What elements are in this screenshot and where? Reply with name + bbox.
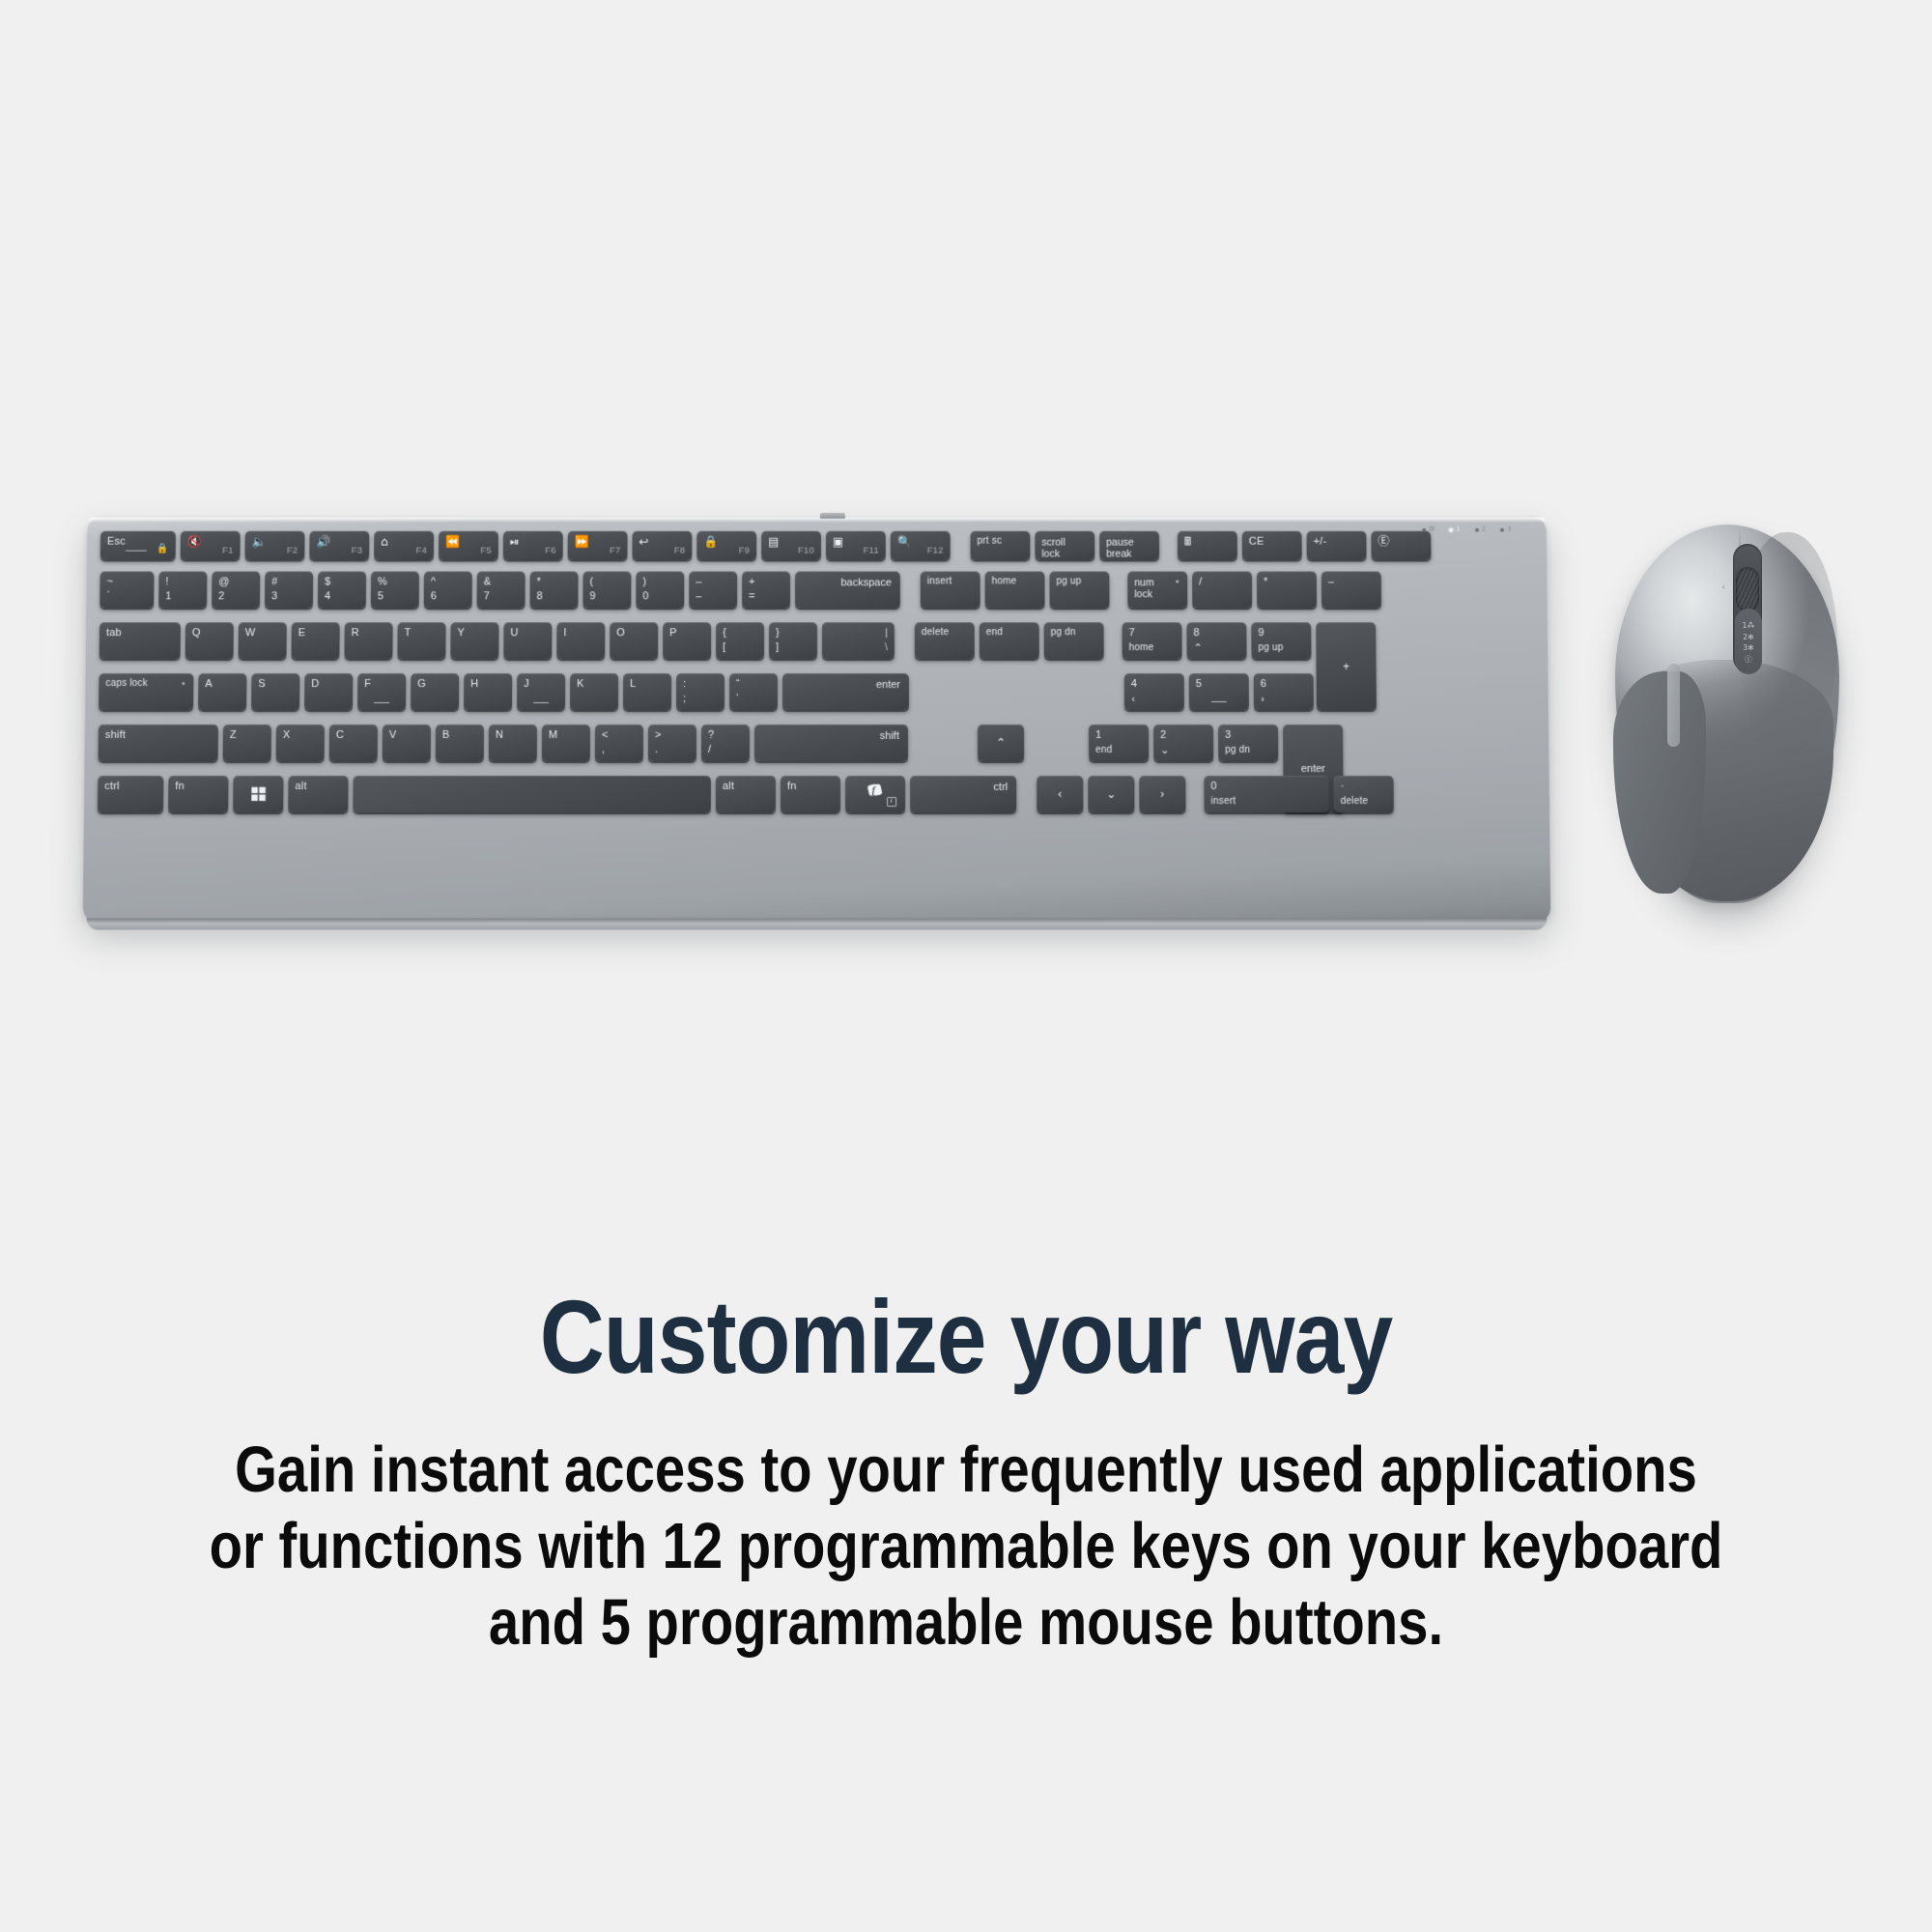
key-z[interactable]: Z bbox=[223, 724, 271, 761]
key-x[interactable]: X bbox=[276, 724, 325, 761]
key-c[interactable]: C bbox=[329, 724, 378, 761]
key-9[interactable]: ( 9 bbox=[582, 571, 631, 608]
pairing-led-strip: ❂ 1 2 3 bbox=[1422, 526, 1512, 533]
key-0[interactable]: ) 0 bbox=[636, 571, 684, 608]
key-space[interactable] bbox=[353, 776, 711, 812]
key-left-alt[interactable]: alt bbox=[288, 776, 348, 812]
key-f12-search[interactable]: 🔍 F12 bbox=[891, 531, 951, 560]
padlock-icon: 🔒 bbox=[703, 536, 718, 548]
page-subtitle: Gain instant access to your frequently u… bbox=[155, 1432, 1777, 1661]
key-i[interactable]: I bbox=[556, 622, 605, 659]
led-label-1: 1 bbox=[1456, 526, 1461, 533]
key-arrow-left[interactable]: ‹ bbox=[1037, 776, 1083, 812]
key-h[interactable]: H bbox=[464, 673, 512, 710]
key-tab[interactable]: tab bbox=[99, 622, 181, 659]
key-numpad-4[interactable]: 4 ‹ bbox=[1124, 673, 1184, 710]
calculator-icon: 🖩 bbox=[1184, 536, 1191, 548]
chevron-left-icon: ‹ bbox=[1131, 694, 1136, 704]
led-label-3: 3 bbox=[1507, 526, 1512, 533]
marketing-copy: Customize your way Gain instant access t… bbox=[0, 1285, 1932, 1661]
key-8[interactable]: * 8 bbox=[530, 571, 579, 608]
led-channel-2: 2 bbox=[1475, 526, 1487, 533]
keyboard: ❂ 1 2 3 Esc 🔒 bbox=[83, 518, 1551, 923]
key-caps-lock[interactable]: caps lock bbox=[99, 673, 193, 710]
key-equals[interactable]: + = bbox=[742, 571, 790, 608]
led-dot-2 bbox=[1475, 527, 1479, 531]
key-minus[interactable]: – – bbox=[689, 571, 737, 608]
key-end[interactable]: end bbox=[980, 622, 1039, 659]
key-l[interactable]: L bbox=[623, 673, 671, 710]
key-teams[interactable]: f bbox=[845, 776, 905, 812]
key-f11-display[interactable]: ▣ F11 bbox=[826, 531, 886, 560]
panels-icon: ▤ bbox=[768, 536, 779, 548]
key-numpad-8[interactable]: 8 ⌃ bbox=[1186, 622, 1246, 659]
key-backspace[interactable]: backspace bbox=[795, 571, 900, 608]
mouse-mode-3[interactable]: 3✻ bbox=[1743, 644, 1753, 652]
mouse-mode-pair[interactable]: Ⓘ bbox=[1745, 656, 1752, 664]
key-right-ctrl[interactable]: ctrl bbox=[910, 776, 1016, 812]
key-n[interactable]: N bbox=[489, 724, 537, 761]
arrow-right-icon: › bbox=[1139, 788, 1185, 800]
keyboard-row-numbers: ~ ` ! 1 @ 2 # 3 $ 4 bbox=[99, 571, 1381, 608]
key-right-shift[interactable]: shift bbox=[754, 724, 908, 761]
chevron-up-icon: ⌃ bbox=[1194, 642, 1203, 653]
home-icon: ⌂ bbox=[381, 536, 388, 548]
key-left-bracket[interactable]: { [ bbox=[716, 622, 764, 659]
key-numpad-plus[interactable]: + bbox=[1316, 622, 1377, 710]
rewind-icon: ⏪ bbox=[445, 536, 460, 548]
key-s[interactable]: S bbox=[251, 673, 299, 710]
key-numpad-3[interactable]: 3 pg dn bbox=[1218, 724, 1278, 761]
key-numpad-5[interactable]: 5 bbox=[1189, 673, 1249, 710]
key-u[interactable]: U bbox=[503, 622, 552, 659]
key-enter[interactable]: enter bbox=[782, 673, 909, 710]
key-insert[interactable]: insert bbox=[921, 571, 980, 608]
mouse-pairing-mode-buttons[interactable]: 1⁂ 2✻ 3✻ Ⓘ bbox=[1735, 609, 1762, 674]
key-3[interactable]: # 3 bbox=[265, 571, 313, 608]
key-f6-play-pause[interactable]: ⏯ F6 bbox=[503, 531, 563, 560]
key-f9-lock[interactable]: 🔒 F9 bbox=[696, 531, 756, 560]
lock-icon: 🔒 bbox=[156, 545, 169, 554]
key-f3-volume-up[interactable]: 🔊 F3 bbox=[309, 531, 369, 560]
speaker-low-icon: 🔈 bbox=[252, 536, 267, 548]
key-5[interactable]: % 5 bbox=[371, 571, 419, 608]
key-right-fn[interactable]: fn bbox=[781, 776, 840, 812]
key-arrow-right[interactable]: › bbox=[1139, 776, 1185, 812]
num-lock-led bbox=[1176, 580, 1179, 582]
key-p[interactable]: P bbox=[663, 622, 711, 659]
mouse-mode-1[interactable]: 1⁂ bbox=[1743, 622, 1755, 630]
key-f2-volume-down[interactable]: 🔈 F2 bbox=[244, 531, 304, 560]
key-numpad-divide[interactable]: / bbox=[1192, 571, 1252, 608]
key-quote[interactable]: “ ‘ bbox=[729, 673, 778, 710]
led-label-2: 2 bbox=[1482, 526, 1487, 533]
key-o[interactable]: O bbox=[610, 622, 658, 659]
key-f[interactable]: F bbox=[357, 673, 406, 710]
key-home[interactable]: home bbox=[985, 571, 1045, 608]
key-v[interactable]: V bbox=[383, 724, 431, 761]
key-page-down[interactable]: pg dn bbox=[1044, 622, 1104, 659]
tilt-right-icon: › bbox=[1764, 581, 1768, 593]
keyboard-row-bottom: ctrl fn alt bbox=[98, 776, 1394, 812]
key-numpad-6[interactable]: 6 › bbox=[1254, 673, 1314, 710]
mouse-mode-2[interactable]: 2✻ bbox=[1743, 634, 1753, 641]
chevron-down-icon: ⌄ bbox=[1160, 745, 1169, 755]
key-left-ctrl[interactable]: ctrl bbox=[98, 776, 163, 812]
key-arrow-up[interactable]: ⌃ bbox=[978, 724, 1024, 761]
key-f10-task-view[interactable]: ▤ F10 bbox=[761, 531, 821, 560]
chevron-right-icon: › bbox=[1261, 694, 1265, 704]
key-comma[interactable]: < , bbox=[595, 724, 643, 761]
key-2[interactable]: @ 2 bbox=[212, 571, 260, 608]
key-numpad-9[interactable]: 9 pg up bbox=[1251, 622, 1311, 659]
key-numpad-decimal[interactable]: · delete bbox=[1333, 776, 1393, 812]
key-left-fn[interactable]: fn bbox=[168, 776, 228, 812]
play-pause-icon: ⏯ bbox=[510, 536, 520, 548]
key-clear-entry[interactable]: CE bbox=[1242, 531, 1302, 560]
led-dot-1 bbox=[1449, 527, 1453, 531]
key-j[interactable]: J bbox=[517, 673, 565, 710]
arrow-down-icon: ⌄ bbox=[1088, 788, 1134, 800]
mouse: ‹ › 1⁂ 2✻ 3✻ Ⓘ bbox=[1615, 517, 1839, 903]
key-d[interactable]: D bbox=[304, 673, 353, 710]
key-backslash[interactable]: | \ bbox=[822, 622, 895, 659]
key-period[interactable]: > . bbox=[648, 724, 696, 761]
key-right-alt[interactable]: alt bbox=[716, 776, 776, 812]
speaker-mute-icon: 🔇 bbox=[187, 536, 202, 548]
key-f4-home[interactable]: ⌂ F4 bbox=[374, 531, 434, 560]
key-esc[interactable]: Esc 🔒 bbox=[100, 531, 176, 560]
key-f8-share[interactable]: ↩ F8 bbox=[632, 531, 692, 560]
key-page-up[interactable]: pg up bbox=[1049, 571, 1109, 608]
key-num-lock[interactable]: num lock bbox=[1127, 571, 1187, 608]
key-delete[interactable]: delete bbox=[915, 622, 975, 659]
key-plus-minus[interactable]: +/- bbox=[1307, 531, 1367, 560]
led-dot-3 bbox=[1500, 527, 1504, 531]
key-semicolon[interactable]: : ; bbox=[676, 673, 724, 710]
led-channel-3: 3 bbox=[1500, 526, 1512, 533]
key-numpad-2[interactable]: 2 ⌄ bbox=[1153, 724, 1213, 761]
mouse-scroll-wheel[interactable] bbox=[1736, 567, 1759, 611]
key-numpad-multiply[interactable]: * bbox=[1257, 571, 1317, 608]
key-e[interactable]: E bbox=[292, 622, 340, 659]
key-numpad-minus[interactable]: – bbox=[1321, 571, 1381, 608]
key-1[interactable]: ! 1 bbox=[158, 571, 207, 608]
key-arrow-down[interactable]: ⌄ bbox=[1088, 776, 1134, 812]
speaker-high-icon: 🔊 bbox=[316, 536, 330, 548]
key-4[interactable]: $ 4 bbox=[318, 571, 366, 608]
pairing-icon: Ⓔ bbox=[1378, 536, 1389, 548]
led-channel-1: 1 bbox=[1449, 526, 1461, 533]
arrow-left-icon: ‹ bbox=[1037, 788, 1083, 800]
key-q[interactable]: Q bbox=[185, 622, 234, 659]
key-k[interactable]: K bbox=[570, 673, 618, 710]
windows-icon bbox=[233, 787, 283, 802]
key-7[interactable]: & 7 bbox=[477, 571, 526, 608]
product-photo-stage: ❂ 1 2 3 Esc 🔒 bbox=[0, 0, 1932, 1285]
page-title: Customize your way bbox=[135, 1285, 1797, 1389]
share-arrow-icon: ↩ bbox=[639, 536, 648, 548]
fast-forward-icon: ⏩ bbox=[575, 536, 589, 548]
key-slash[interactable]: ? / bbox=[701, 724, 750, 761]
key-scroll-lock[interactable]: scroll lock bbox=[1035, 531, 1094, 560]
keyboard-row-function: Esc 🔒 🔇 F1 🔈 F2 🔊 F3 ⌂ bbox=[100, 531, 1432, 560]
key-r[interactable]: R bbox=[344, 622, 392, 659]
screen-icon: ▣ bbox=[833, 536, 843, 548]
arrow-up-icon: ⌃ bbox=[978, 737, 1024, 749]
caps-lock-led bbox=[182, 682, 185, 685]
keyboard-row-home: caps lock A S D F G H J K L bbox=[99, 673, 1314, 710]
teams-icon: f bbox=[867, 782, 884, 802]
key-w[interactable]: W bbox=[239, 622, 287, 659]
key-6[interactable]: ^ 6 bbox=[424, 571, 472, 608]
key-numpad-1[interactable]: 1 end bbox=[1089, 724, 1149, 761]
key-left-shift[interactable]: shift bbox=[99, 724, 218, 761]
key-m[interactable]: M bbox=[542, 724, 590, 761]
key-pairing[interactable]: Ⓔ bbox=[1371, 531, 1431, 560]
key-g[interactable]: G bbox=[411, 673, 459, 710]
key-windows[interactable] bbox=[233, 776, 283, 812]
key-f1-mute[interactable]: 🔇 F1 bbox=[181, 531, 241, 560]
key-f7-next-track[interactable]: ⏩ F7 bbox=[568, 531, 628, 560]
key-t[interactable]: T bbox=[397, 622, 445, 659]
key-numpad-7[interactable]: 7 home bbox=[1122, 622, 1182, 659]
key-calculator[interactable]: 🖩 bbox=[1178, 531, 1237, 560]
key-right-bracket[interactable]: } ] bbox=[769, 622, 817, 659]
key-a[interactable]: A bbox=[198, 673, 246, 710]
key-print-screen[interactable]: prt sc bbox=[971, 531, 1031, 560]
key-b[interactable]: B bbox=[436, 724, 484, 761]
key-backtick[interactable]: ~ ` bbox=[99, 571, 154, 608]
magnifier-icon: 🔍 bbox=[897, 536, 912, 548]
key-pause-break[interactable]: pause break bbox=[1099, 531, 1159, 560]
key-y[interactable]: Y bbox=[450, 622, 498, 659]
key-f5-previous-track[interactable]: ⏪ F5 bbox=[439, 531, 498, 560]
tilt-left-icon: ‹ bbox=[1721, 581, 1725, 593]
mouse-side-button[interactable] bbox=[1667, 664, 1680, 747]
key-numpad-0[interactable]: 0 insert bbox=[1204, 776, 1328, 812]
mouse-thumb-side bbox=[1613, 671, 1706, 894]
